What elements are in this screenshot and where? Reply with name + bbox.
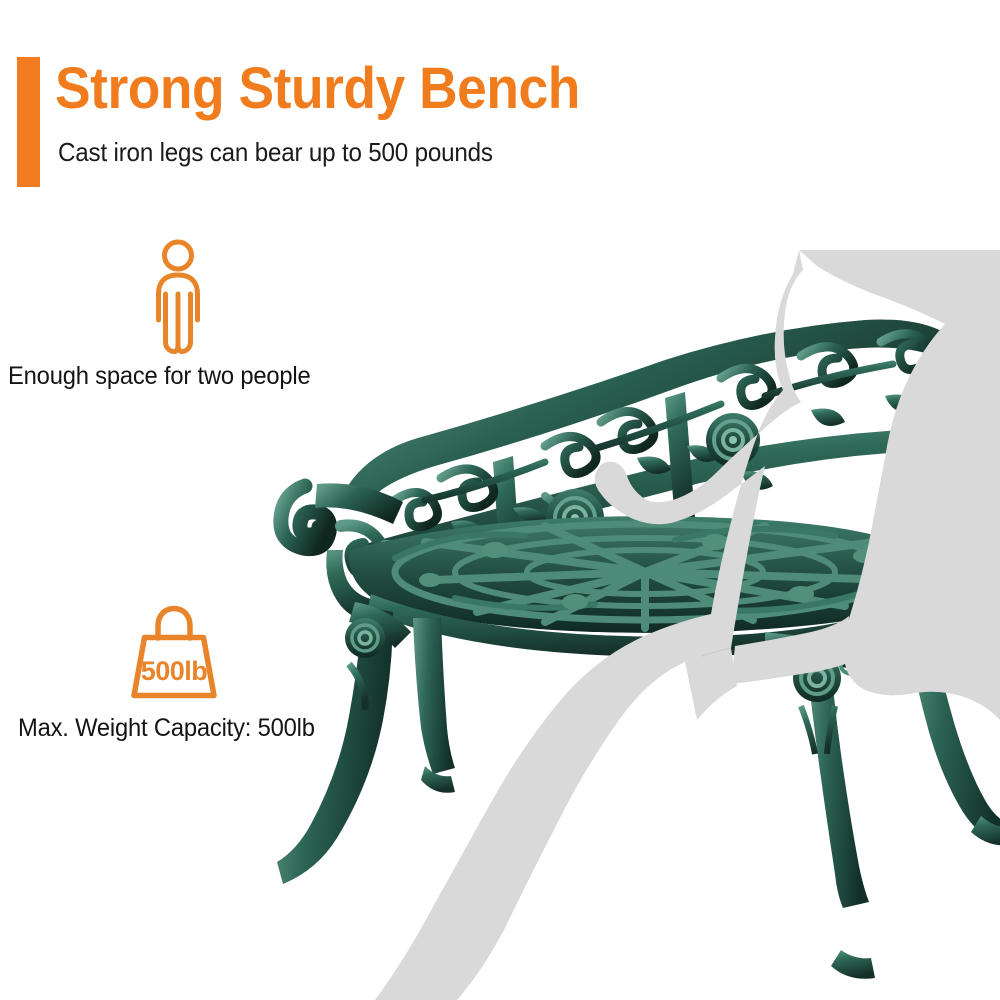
page-title: Strong Sturdy Bench [55,54,580,124]
weight-bag-icon: 500lb [130,604,218,704]
product-photo-bench [245,250,1000,1000]
person-icon [148,238,208,361]
weight-value: 500lb [130,656,218,687]
infographic-canvas: Strong Sturdy Bench Cast iron legs can b… [0,0,1000,1000]
accent-bar [17,57,40,187]
page-subtitle: Cast iron legs can bear up to 500 pounds [58,135,493,169]
